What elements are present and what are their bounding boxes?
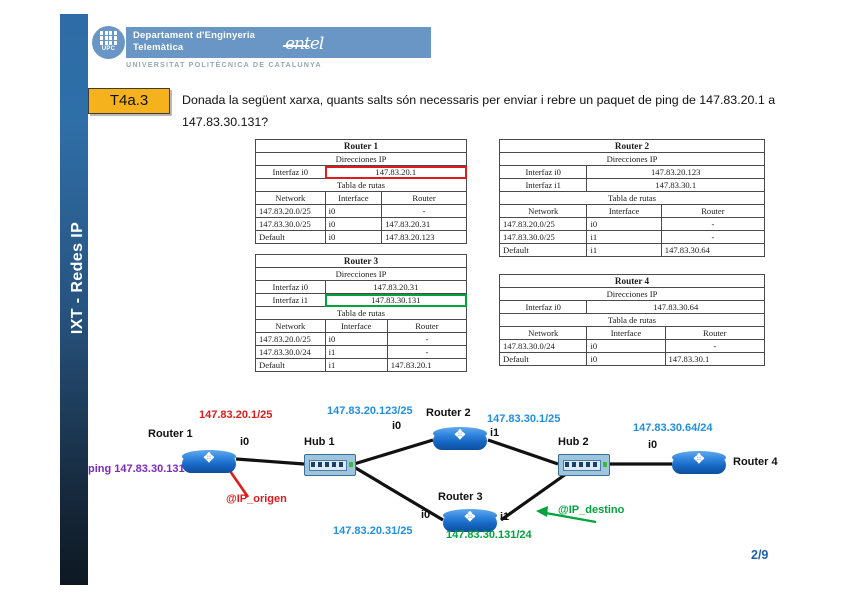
route-interface: i1	[587, 231, 661, 244]
table-row: Direcciones IP	[500, 153, 765, 166]
table-row: Defaulti0147.83.30.1	[500, 353, 765, 366]
route-interface: i0	[325, 205, 381, 218]
table-row: Defaulti1147.83.20.1	[256, 359, 467, 372]
table-row: Tabla de rutas	[256, 307, 467, 320]
interface-name: Interfaz i0	[256, 166, 326, 179]
table-row: NetworkInterfaceRouter	[500, 327, 765, 340]
table-row: Direcciones IP	[256, 268, 467, 281]
tabla-de-rutas-header: Tabla de rutas	[256, 179, 467, 192]
route-network: 147.83.20.0/25	[256, 333, 326, 346]
route-router: -	[382, 205, 467, 218]
router-3-i1-label: i1	[500, 511, 509, 523]
department-line-1: Departament d'Enginyeria	[133, 30, 255, 42]
interface-name: Interfaz i1	[500, 179, 587, 192]
router-2-i0-ip-label: 147.83.20.123/25	[327, 405, 413, 417]
page-number: 2/9	[751, 548, 768, 562]
interface-ip: 147.83.20.123	[587, 166, 765, 179]
interface-ip: 147.83.30.131	[325, 294, 466, 307]
table-row: 147.83.30.0/25i1-	[500, 231, 765, 244]
route-router: -	[665, 340, 765, 353]
direcciones-ip-header: Direcciones IP	[256, 268, 467, 281]
router-4-icon: ✥	[672, 451, 726, 477]
direcciones-ip-header: Direcciones IP	[256, 153, 467, 166]
router-1-name: Router 1	[148, 428, 193, 440]
hub-1-icon	[304, 454, 356, 476]
router-4-ip-label: 147.83.30.64/24	[633, 422, 713, 434]
table-row: Interfaz i1147.83.30.1	[500, 179, 765, 192]
interface-name: Interfaz i0	[256, 281, 326, 294]
network-diagram: ✥ Router 1 147.83.20.1/25 i0 ping 147.83…	[88, 392, 788, 567]
route-router: -	[387, 346, 466, 359]
router-table-title: Router 4	[500, 275, 765, 288]
route-network: 147.83.30.0/24	[256, 346, 326, 359]
interface-ip: 147.83.30.1	[587, 179, 765, 192]
route-network: 147.83.20.0/25	[500, 218, 587, 231]
tabla-de-rutas-header: Tabla de rutas	[256, 307, 467, 320]
route-router: 147.83.20.31	[382, 218, 467, 231]
column-header-interface: Interface	[587, 205, 661, 218]
table-row: NetworkInterfaceRouter	[256, 192, 467, 205]
table-row: Direcciones IP	[256, 153, 467, 166]
route-router: -	[661, 218, 764, 231]
department-title: Departament d'Enginyeria Telemàtica	[133, 30, 255, 53]
table-row: 147.83.20.0/25i0-	[256, 205, 467, 218]
router-table-1: Router 1Direcciones IPInterfaz i0147.83.…	[255, 139, 467, 244]
tabla-de-rutas-header: Tabla de rutas	[500, 314, 765, 327]
university-name: UNIVERSITAT POLITÈCNICA DE CATALUNYA	[126, 60, 322, 69]
table-row: 147.83.20.0/25i0-	[256, 333, 467, 346]
router-1-icon: ✥	[182, 450, 236, 476]
router-4-i0-label: i0	[648, 439, 657, 451]
table-row: Interfaz i0147.83.20.123	[500, 166, 765, 179]
router-2-i1-label: i1	[490, 427, 499, 439]
table-row: Router 1	[256, 140, 467, 153]
route-router: 147.83.20.1	[387, 359, 466, 372]
table-row: Tabla de rutas	[500, 314, 765, 327]
route-router: -	[661, 231, 764, 244]
route-router: 147.83.30.1	[665, 353, 765, 366]
interface-name: Interfaz i0	[500, 301, 587, 314]
route-interface: i0	[325, 333, 387, 346]
upc-logo-icon: UPC	[92, 26, 125, 59]
router-1-i0-label: i0	[240, 436, 249, 448]
interface-ip: 147.83.30.64	[587, 301, 765, 314]
router-3-i0-ip-label: 147.83.20.31/25	[333, 525, 413, 537]
router-2-icon: ✥	[433, 427, 487, 453]
column-header-interface: Interface	[325, 320, 387, 333]
column-header-network: Network	[256, 192, 326, 205]
ping-command-label: ping 147.83.30.131	[88, 463, 185, 475]
route-interface: i0	[587, 353, 665, 366]
column-header-router: Router	[665, 327, 765, 340]
route-interface: i1	[325, 346, 387, 359]
route-network: Default	[256, 231, 326, 244]
table-row: 147.83.20.0/25i0-	[500, 218, 765, 231]
table-row: Router 2	[500, 140, 765, 153]
table-row: NetworkInterfaceRouter	[256, 320, 467, 333]
route-network: Default	[256, 359, 326, 372]
router-3-i1-ip-label: 147.83.30.131/24	[446, 529, 532, 541]
route-network: 147.83.20.0/25	[256, 205, 326, 218]
route-router: 147.83.30.64	[661, 244, 764, 257]
exercise-tag: T4a.3	[88, 88, 170, 114]
router-2-i1-ip-label: 147.83.30.1/25	[487, 413, 560, 425]
route-interface: i1	[325, 359, 387, 372]
router-table-4: Router 4Direcciones IPInterfaz i0147.83.…	[499, 274, 765, 366]
column-header-router: Router	[661, 205, 764, 218]
table-row: Interfaz i0147.83.20.1	[256, 166, 467, 179]
hub-2-name: Hub 2	[558, 436, 589, 448]
sidebar-course-label: IXT - Redes IP	[64, 188, 92, 368]
route-network: Default	[500, 244, 587, 257]
interface-ip: 147.83.20.31	[325, 281, 466, 294]
department-line-2: Telemàtica	[133, 42, 255, 54]
table-row: Tabla de rutas	[256, 179, 467, 192]
tabla-de-rutas-header: Tabla de rutas	[500, 192, 765, 205]
table-row: NetworkInterfaceRouter	[500, 205, 765, 218]
interface-name: Interfaz i0	[500, 166, 587, 179]
router-table-title: Router 1	[256, 140, 467, 153]
table-row: 147.83.30.0/24i1-	[256, 346, 467, 359]
route-network: Default	[500, 353, 587, 366]
column-header-router: Router	[382, 192, 467, 205]
direcciones-ip-header: Direcciones IP	[500, 288, 765, 301]
route-router: -	[387, 333, 466, 346]
column-header-router: Router	[387, 320, 466, 333]
column-header-interface: Interface	[587, 327, 665, 340]
route-network: 147.83.30.0/24	[500, 340, 587, 353]
route-interface: i0	[587, 340, 665, 353]
router-table-3: Router 3Direcciones IPInterfaz i0147.83.…	[255, 254, 467, 372]
route-interface: i0	[587, 218, 661, 231]
slide-canvas: IXT - Redes IP UPC Departament d'Enginye…	[0, 0, 848, 599]
column-header-network: Network	[256, 320, 326, 333]
question-text: Donada la següent xarxa, quants salts só…	[182, 89, 792, 133]
column-header-network: Network	[500, 327, 587, 340]
column-header-network: Network	[500, 205, 587, 218]
router-table-title: Router 2	[500, 140, 765, 153]
sidebar-band: IXT - Redes IP	[60, 14, 88, 585]
column-header-interface: Interface	[325, 192, 381, 205]
router-1-ip-label: 147.83.20.1/25	[199, 409, 272, 421]
table-row: Router 4	[500, 275, 765, 288]
hub-1-name: Hub 1	[304, 436, 335, 448]
upc-logo-text: UPC	[92, 46, 125, 52]
table-row: Router 3	[256, 255, 467, 268]
router-table-2: Router 2Direcciones IPInterfaz i0147.83.…	[499, 139, 765, 257]
origin-annotation-label: @IP_origen	[226, 493, 287, 505]
direcciones-ip-header: Direcciones IP	[500, 153, 765, 166]
table-row: Defaulti1147.83.30.64	[500, 244, 765, 257]
upc-grid-icon	[100, 31, 117, 45]
hub-2-icon	[558, 454, 610, 476]
route-interface: i1	[587, 244, 661, 257]
interface-ip: 147.83.20.1	[325, 166, 466, 179]
table-row: Interfaz i0147.83.30.64	[500, 301, 765, 314]
router-3-name: Router 3	[438, 491, 483, 503]
route-router: 147.83.20.123	[382, 231, 467, 244]
route-network: 147.83.30.0/25	[500, 231, 587, 244]
table-row: 147.83.30.0/24i0-	[500, 340, 765, 353]
table-row: Direcciones IP	[500, 288, 765, 301]
route-network: 147.83.30.0/25	[256, 218, 326, 231]
router-4-name: Router 4	[733, 456, 778, 468]
table-row: 147.83.30.0/25i0147.83.20.31	[256, 218, 467, 231]
router-2-i0-label: i0	[392, 420, 401, 432]
router-2-name: Router 2	[426, 407, 471, 419]
table-row: Interfaz i0147.83.20.31	[256, 281, 467, 294]
router-3-i0-label: i0	[421, 509, 430, 521]
table-row: Tabla de rutas	[500, 192, 765, 205]
route-interface: i0	[325, 231, 381, 244]
router-table-title: Router 3	[256, 255, 467, 268]
table-row: Defaulti0147.83.20.123	[256, 231, 467, 244]
entel-brand-logo: entel	[285, 34, 323, 54]
route-interface: i0	[325, 218, 381, 231]
destination-annotation-label: @IP_destino	[558, 504, 624, 516]
interface-name: Interfaz i1	[256, 294, 326, 307]
table-row: Interfaz i1147.83.30.131	[256, 294, 467, 307]
